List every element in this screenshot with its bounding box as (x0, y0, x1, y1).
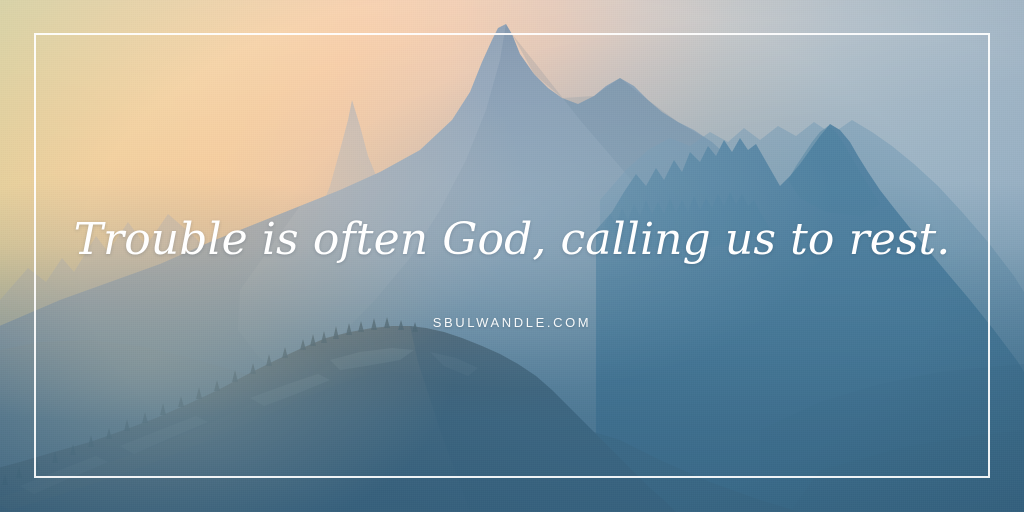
quote-card: Trouble is often God, calling us to rest… (0, 0, 1024, 512)
attribution-text: SBULWANDLE.COM (433, 315, 591, 330)
quote-text: Trouble is often God, calling us to rest… (74, 216, 951, 264)
text-block: Trouble is often God, calling us to rest… (0, 0, 1024, 512)
